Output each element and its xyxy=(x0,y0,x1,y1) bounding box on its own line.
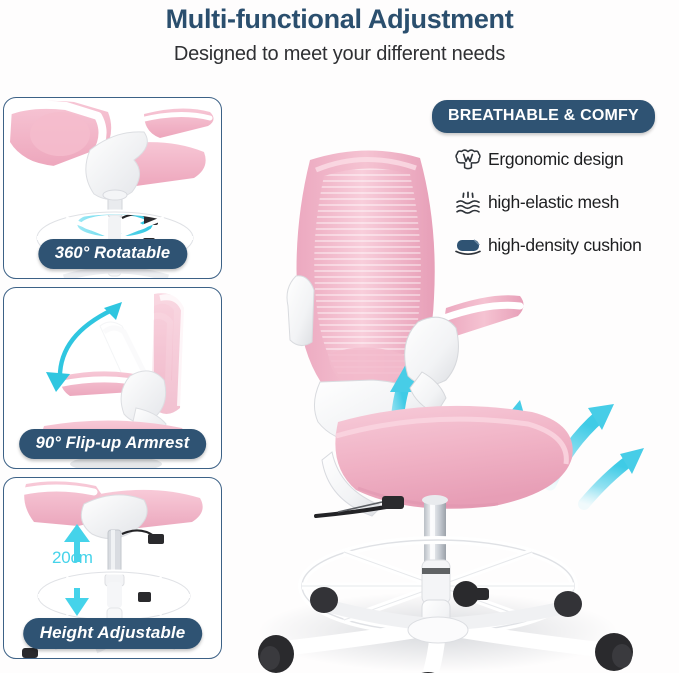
height-measure-label: 20cm xyxy=(52,548,93,568)
feature-panel-rotatable: 360° Rotatable xyxy=(3,97,222,279)
panel-label-height-adjustable: Height Adjustable xyxy=(23,618,203,649)
feature-panel-flip-up-armrest: 90° Flip-up Armrest xyxy=(3,287,222,469)
feature-panel-height-adjustable: 20cm Height Adjustable xyxy=(3,477,222,659)
panel-label-rotatable: 360° Rotatable xyxy=(38,239,187,269)
page-subtitle: Designed to meet your different needs xyxy=(0,35,679,66)
infographic-page: Multi-functional Adjustment Designed to … xyxy=(0,0,679,673)
page-title: Multi-functional Adjustment xyxy=(0,0,679,35)
product-image-drafting-chair xyxy=(232,92,679,673)
header: Multi-functional Adjustment Designed to … xyxy=(0,0,679,66)
panel-label-flip-up-armrest: 90° Flip-up Armrest xyxy=(19,429,207,459)
